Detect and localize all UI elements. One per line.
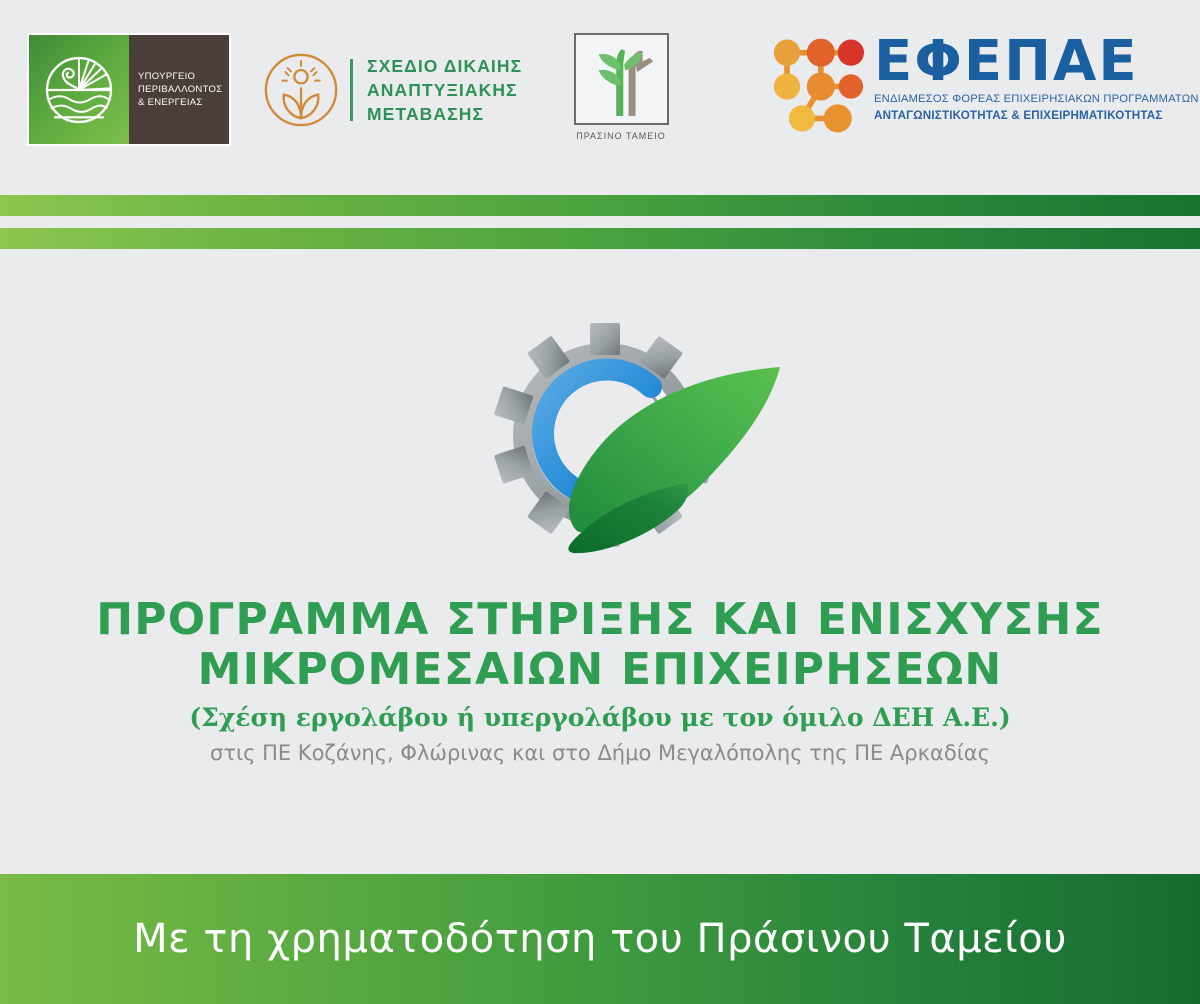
- efepae-text-group: ΕΦΕΠΑΕ ΕΝΔΙΑΜΕΣΟΣ ΦΟΡΕΑΣ ΕΠΙΧΕΙΡΗΣΙΑΚΩΝ …: [874, 30, 1199, 123]
- sdam-label-line-1: ΣΧΕΔΙΟ ΔΙΚΑΙΗΣ: [367, 54, 522, 78]
- sdam-label-group: ΣΧΕΔΙΟ ΔΙΚΑΙΗΣ ΑΝΑΠΤΥΞΙΑΚΗΣ ΜΕΤΑΒΑΣΗΣ: [367, 54, 522, 126]
- page-subtitle: (Σχέση εργολάβου ή υπεργολάβου με τον όμ…: [0, 703, 1200, 732]
- sun-sprout-icon: [262, 51, 340, 129]
- page-title-line-2: ΜΙΚΡΟΜΕΣΑΙΩΝ ΕΠΙΧΕΙΡΗΣΕΩΝ: [0, 645, 1200, 695]
- sdam-divider: [350, 59, 353, 121]
- molecule-network-icon: [766, 32, 870, 140]
- header-logo-row: ΥΠΟΥΡΓΕΙΟ ΠΕΡΙΒΑΛΛΟΝΤΟΣ & ΕΝΕΡΓΕΙΑΣ: [0, 0, 1200, 190]
- sdam-label-line-2: ΑΝΑΠΤΥΞΙΑΚΗΣ: [367, 78, 522, 102]
- ministry-label-line-1: ΥΠΟΥΡΓΕΙΟ: [138, 70, 229, 83]
- green-stripe-bottom: [0, 228, 1200, 249]
- efepae-wordmark: ΕΦΕΠΑΕ: [874, 32, 1199, 92]
- gear-leaf-logo-icon: [455, 305, 785, 570]
- funding-banner: Με τη χρηματοδότηση του Πράσινου Ταμείου: [0, 874, 1200, 1004]
- ministry-emblem-icon: [29, 35, 129, 144]
- sdam-label-line-3: ΜΕΤΑΒΑΣΗΣ: [367, 102, 522, 126]
- poster-canvas: ΥΠΟΥΡΓΕΙΟ ΠΕΡΙΒΑΛΛΟΝΤΟΣ & ΕΝΕΡΓΕΙΑΣ: [0, 0, 1200, 1004]
- logo-green-fund: ΠΡΑΣΙΝΟ ΤΑΜΕΙΟ: [566, 33, 676, 148]
- page-title-line-1: ΠΡΟΓΡΑΜΜΑ ΣΤΗΡΙΞΗΣ ΚΑΙ ΕΝΙΣΧΥΣΗΣ: [0, 595, 1200, 645]
- green-fund-caption: ΠΡΑΣΙΝΟ ΤΑΜΕΙΟ: [576, 131, 666, 141]
- title-block: ΠΡΟΓΡΑΜΜΑ ΣΤΗΡΙΞΗΣ ΚΑΙ ΕΝΙΣΧΥΣΗΣ ΜΙΚΡΟΜΕ…: [0, 595, 1200, 765]
- ministry-label-line-3: & ΕΝΕΡΓΕΙΑΣ: [138, 96, 229, 109]
- tree-sapling-icon: [574, 33, 669, 125]
- page-scope-note: στις ΠΕ Κοζάνης, Φλώρινας και στο Δήμο Μ…: [0, 741, 1200, 765]
- ministry-label-line-2: ΠΕΡΙΒΑΛΛΟΝΤΟΣ: [138, 83, 229, 96]
- logo-sdam: ΣΧΕΔΙΟ ΔΙΚΑΙΗΣ ΑΝΑΠΤΥΞΙΑΚΗΣ ΜΕΤΑΒΑΣΗΣ: [262, 40, 552, 140]
- efepae-subtitle-line-1: ΕΝΔΙΑΜΕΣΟΣ ΦΟΡΕΑΣ ΕΠΙΧΕΙΡΗΣΙΑΚΩΝ ΠΡΟΓΡΑΜ…: [874, 92, 1199, 108]
- efepae-subtitle-line-2: ΑΝΤΑΓΩΝΙΣΤΙΚΟΤΗΤΑΣ & ΕΠΙΧΕΙΡΗΜΑΤΙΚΟΤΗΤΑΣ: [874, 108, 1199, 124]
- funding-banner-text: Με τη χρηματοδότηση του Πράσινου Ταμείου: [133, 916, 1067, 962]
- ministry-label-group: ΥΠΟΥΡΓΕΙΟ ΠΕΡΙΒΑΛΛΟΝΤΟΣ & ΕΝΕΡΓΕΙΑΣ: [129, 35, 229, 144]
- logo-efepae: ΕΦΕΠΑΕ ΕΝΔΙΑΜΕΣΟΣ ΦΟΡΕΑΣ ΕΠΙΧΕΙΡΗΣΙΑΚΩΝ …: [766, 30, 1178, 148]
- green-stripe-top: [0, 195, 1200, 216]
- logo-ministry-environment-energy: ΥΠΟΥΡΓΕΙΟ ΠΕΡΙΒΑΛΛΟΝΤΟΣ & ΕΝΕΡΓΕΙΑΣ: [27, 33, 231, 146]
